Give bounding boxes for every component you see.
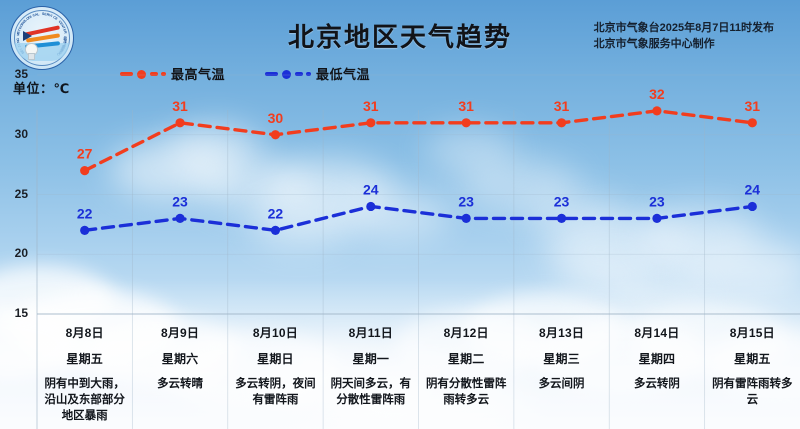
value-label-low-temp: 23 (458, 193, 474, 209)
day-forecast-column: 8月10日星期日多云转阴，夜间有雷阵雨 (228, 318, 323, 429)
day-weekday: 星期六 (135, 350, 224, 367)
value-label-high-temp: 31 (172, 98, 188, 114)
day-forecast-column: 8月13日星期三多云间阴 (514, 318, 609, 429)
day-weather-description: 阴天间多云，有分散性雷阵雨 (326, 376, 415, 408)
day-weather-description: 阴有分散性雷阵雨转多云 (422, 376, 511, 408)
marker-high-temp (652, 106, 661, 115)
marker-high-temp (557, 118, 566, 127)
day-date: 8月13日 (517, 324, 606, 341)
marker-low-temp (271, 226, 280, 235)
value-label-low-temp: 23 (649, 193, 665, 209)
day-forecast-column: 8月9日星期六多云转晴 (132, 318, 227, 429)
day-forecast-column: 8月11日星期一阴天间多云，有分散性雷阵雨 (323, 318, 418, 429)
marker-low-temp (175, 214, 184, 223)
marker-high-temp (748, 118, 757, 127)
value-label-high-temp: 31 (458, 98, 474, 114)
value-label-high-temp: 32 (649, 86, 665, 102)
day-forecast-columns: 8月8日星期五阴有中到大雨，沿山及东部部分地区暴雨8月9日星期六多云转晴8月10… (37, 318, 800, 429)
marker-low-temp (462, 214, 471, 223)
marker-high-temp (462, 118, 471, 127)
day-weather-description: 阴有雷阵雨转多云 (708, 376, 797, 408)
day-date: 8月8日 (40, 324, 129, 341)
value-label-high-temp: 31 (745, 98, 761, 114)
day-weather-description: 多云转阴 (612, 376, 701, 392)
value-label-high-temp: 31 (363, 98, 379, 114)
day-forecast-column: 8月12日星期二阴有分散性雷阵雨转多云 (419, 318, 514, 429)
y-axis-tick: 15 (4, 306, 28, 320)
y-axis-tick: 35 (4, 67, 28, 81)
day-weather-description: 多云间阴 (517, 376, 606, 392)
value-label-high-temp: 31 (554, 98, 570, 114)
marker-high-temp (80, 166, 89, 175)
value-label-low-temp: 22 (268, 205, 284, 221)
day-date: 8月14日 (612, 324, 701, 341)
day-weekday: 星期日 (231, 350, 320, 367)
day-weekday: 星期一 (326, 350, 415, 367)
y-axis-tick: 20 (4, 246, 28, 260)
day-date: 8月9日 (135, 324, 224, 341)
value-label-low-temp: 24 (745, 181, 761, 197)
day-date: 8月10日 (231, 324, 320, 341)
marker-low-temp (80, 226, 89, 235)
marker-high-temp (271, 130, 280, 139)
day-weather-description: 多云转晴 (135, 376, 224, 392)
day-date: 8月15日 (708, 324, 797, 341)
day-weekday: 星期三 (517, 350, 606, 367)
y-axis-tick: 25 (4, 187, 28, 201)
value-label-high-temp: 27 (77, 146, 93, 162)
value-label-low-temp: 24 (363, 181, 379, 197)
y-axis-tick: 30 (4, 127, 28, 141)
marker-low-temp (366, 202, 375, 211)
value-label-low-temp: 23 (172, 193, 188, 209)
weather-trend-infographic: BEIJING METEOROLOGICAL SERVICE CENTER 北京… (0, 0, 800, 429)
marker-low-temp (652, 214, 661, 223)
value-label-high-temp: 30 (268, 110, 284, 126)
day-forecast-column: 8月15日星期五阴有雷阵雨转多云 (705, 318, 800, 429)
marker-low-temp (748, 202, 757, 211)
day-weekday: 星期五 (708, 350, 797, 367)
day-forecast-column: 8月14日星期四多云转阴 (609, 318, 704, 429)
value-label-low-temp: 22 (77, 205, 93, 221)
day-weather-description: 多云转阴，夜间有雷阵雨 (231, 376, 320, 408)
day-weekday: 星期二 (422, 350, 511, 367)
day-date: 8月12日 (422, 324, 511, 341)
day-weekday: 星期五 (40, 350, 129, 367)
day-date: 8月11日 (326, 324, 415, 341)
marker-high-temp (366, 118, 375, 127)
value-label-low-temp: 23 (554, 193, 570, 209)
day-weekday: 星期四 (612, 350, 701, 367)
day-weather-description: 阴有中到大雨，沿山及东部部分地区暴雨 (40, 376, 129, 424)
marker-high-temp (175, 118, 184, 127)
day-forecast-column: 8月8日星期五阴有中到大雨，沿山及东部部分地区暴雨 (37, 318, 132, 429)
marker-low-temp (557, 214, 566, 223)
